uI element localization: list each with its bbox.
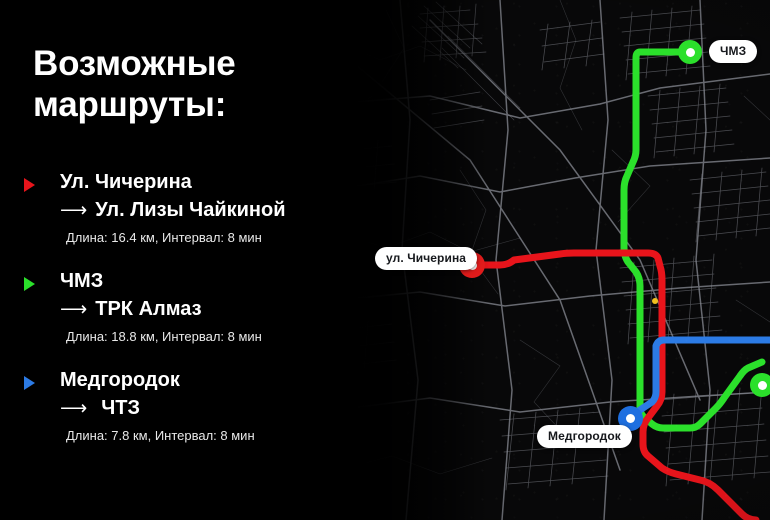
route-item-chicherina[interactable]: Ул. Чичерина ⟶ Ул. Лизы Чайкиной Длина: … [24, 170, 359, 245]
triangle-right-icon [24, 277, 35, 291]
route-item-chmz[interactable]: ЧМЗ ⟶ ТРК Алмаз Длина: 18.8 км, Интервал… [24, 269, 359, 344]
route-destination-row: ⟶ ЧТЗ [60, 396, 359, 421]
route-origin: ЧМЗ [60, 269, 359, 294]
route-line-blue [634, 340, 770, 414]
page-title: Возможные маршруты: [33, 44, 236, 126]
arrow-right-icon: ⟶ [60, 300, 85, 319]
marker-center-dot [626, 414, 635, 423]
map-label-chicherina[interactable]: ул. Чичерина [375, 247, 477, 270]
route-destination-row: ⟶ ТРК Алмаз [60, 297, 359, 322]
left-info-panel: Возможные маршруты: Ул. Чичерина ⟶ Ул. Л… [0, 0, 360, 520]
route-line-red [472, 253, 756, 520]
marker-center-dot [758, 381, 767, 390]
triangle-right-icon [24, 178, 35, 192]
arrow-right-icon: ⟶ [60, 399, 85, 418]
route-destination: Ул. Лизы Чайкиной [95, 198, 285, 223]
poi-marker-yellow[interactable] [652, 298, 658, 304]
route-item-medgorodok[interactable]: Медгородок ⟶ ЧТЗ Длина: 7.8 км, Интервал… [24, 368, 359, 443]
marker-center-dot [686, 48, 695, 57]
page-title-line-1: Возможные [33, 44, 236, 85]
route-meta: Длина: 18.8 км, Интервал: 8 мин [66, 329, 359, 344]
route-destination: ЧТЗ [101, 396, 140, 421]
slide-root: ЧМЗ ул. Чичерина Медгородок Возможные ма… [0, 0, 770, 520]
route-meta: Длина: 16.4 км, Интервал: 8 мин [66, 230, 359, 245]
map-label-chmz[interactable]: ЧМЗ [709, 40, 757, 63]
map-label-medgorodok[interactable]: Медгородок [537, 425, 632, 448]
route-line-green [624, 52, 762, 428]
route-destination: ТРК Алмаз [95, 297, 201, 322]
arrow-right-icon: ⟶ [60, 201, 85, 220]
route-meta: Длина: 7.8 км, Интервал: 8 мин [66, 428, 359, 443]
map-marker-chmz[interactable] [678, 40, 702, 64]
page-title-line-2: маршруты: [33, 85, 236, 126]
route-destination-row: ⟶ Ул. Лизы Чайкиной [60, 198, 359, 223]
route-origin: Ул. Чичерина [60, 170, 359, 195]
route-list: Ул. Чичерина ⟶ Ул. Лизы Чайкиной Длина: … [24, 170, 359, 467]
map-marker-route-terminus[interactable] [750, 373, 770, 397]
triangle-right-icon [24, 376, 35, 390]
route-origin: Медгородок [60, 368, 359, 393]
